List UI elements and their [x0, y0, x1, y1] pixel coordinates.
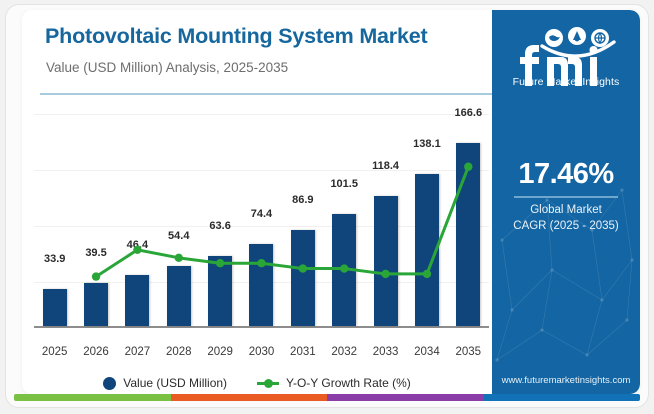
x-axis-tick: 2032 [324, 346, 365, 358]
chart-card: Photovoltaic Mounting System Market Valu… [22, 10, 640, 394]
cagr-caption-line2: CAGR (2025 - 2035) [492, 218, 640, 234]
accent-segment [14, 394, 171, 401]
legend-label-value: Value (USD Million) [123, 376, 227, 390]
growth-point[interactable] [340, 264, 348, 272]
x-axis-tick: 2033 [365, 346, 406, 358]
brand-panel: Future Market Insights 17.46% Global Mar… [492, 10, 640, 394]
page-subtitle: Value (USD Million) Analysis, 2025-2035 [46, 60, 288, 75]
growth-point[interactable] [381, 270, 389, 278]
growth-line-series [22, 98, 492, 346]
legend-label-growth: Y-O-Y Growth Rate (%) [286, 376, 411, 390]
x-axis-tick: 2034 [406, 346, 447, 358]
chart-legend: Value (USD Million) Y-O-Y Growth Rate (%… [22, 370, 492, 394]
cagr-caption-line1: Global Market [492, 202, 640, 218]
growth-line [96, 167, 468, 277]
accent-segment [327, 394, 484, 401]
growth-point[interactable] [133, 246, 141, 254]
accent-segment [171, 394, 328, 401]
growth-point[interactable] [92, 272, 100, 280]
legend-item-growth[interactable]: Y-O-Y Growth Rate (%) [257, 376, 411, 390]
growth-point[interactable] [464, 163, 472, 171]
cagr-value: 17.46% [492, 158, 640, 191]
growth-point[interactable] [216, 259, 224, 267]
logo-subtitle: Future Market Insights [492, 76, 640, 88]
growth-point[interactable] [175, 254, 183, 262]
x-axis-tick: 2026 [75, 346, 116, 358]
legend-swatch-value-icon [103, 377, 116, 390]
x-axis-labels: 2025202620272028202920302031203220332034… [34, 346, 489, 368]
x-axis-tick: 2030 [241, 346, 282, 358]
x-axis-tick: 2028 [158, 346, 199, 358]
website-url[interactable]: www.futuremarketinsights.com [492, 375, 640, 386]
accent-bar [14, 394, 640, 401]
legend-item-value[interactable]: Value (USD Million) [103, 376, 227, 390]
growth-point[interactable] [257, 259, 265, 267]
screenshot-root: Photovoltaic Mounting System Market Valu… [0, 0, 654, 414]
x-axis-tick: 2031 [282, 346, 323, 358]
growth-point[interactable] [299, 264, 307, 272]
accent-segment [484, 394, 641, 401]
x-axis-tick: 2025 [34, 346, 75, 358]
chart-header: Photovoltaic Mounting System Market Valu… [22, 10, 492, 92]
growth-point[interactable] [423, 270, 431, 278]
page-title: Photovoltaic Mounting System Market [45, 24, 427, 49]
cagr-caption: Global Market CAGR (2025 - 2035) [492, 202, 640, 234]
header-divider [40, 93, 492, 95]
panel-divider [514, 196, 618, 198]
legend-swatch-growth-icon [257, 377, 279, 390]
x-axis-tick: 2035 [448, 346, 489, 358]
x-axis-tick: 2029 [199, 346, 240, 358]
x-axis-tick: 2027 [117, 346, 158, 358]
